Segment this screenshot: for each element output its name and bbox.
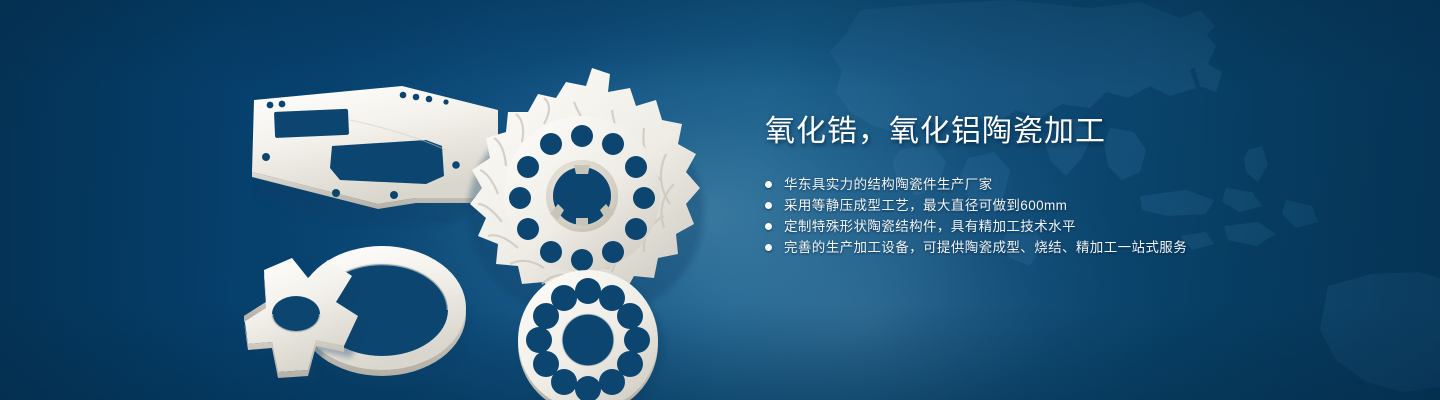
hero-banner: 氧化锆，氧化铝陶瓷加工 华东具实力的结构陶瓷件生产厂家 采用等静压成型工艺，最大… bbox=[0, 0, 1440, 400]
feature-list: 华东具实力的结构陶瓷件生产厂家 采用等静压成型工艺，最大直径可做到600mm 定… bbox=[765, 174, 1385, 258]
product-image-cluster bbox=[230, 50, 700, 390]
feature-text: 完善的生产加工设备，可提供陶瓷成型、烧结、精加工一站式服务 bbox=[784, 237, 1187, 258]
feature-text: 华东具实力的结构陶瓷件生产厂家 bbox=[784, 174, 993, 195]
feature-list-item: 华东具实力的结构陶瓷件生产厂家 bbox=[765, 174, 1385, 195]
feature-text: 采用等静压成型工艺，最大直径可做到600mm bbox=[784, 195, 1067, 216]
feature-text: 定制特殊形状陶瓷结构件，具有精加工技术水平 bbox=[784, 216, 1076, 237]
bullet-dot-icon bbox=[765, 244, 772, 251]
feature-list-item: 完善的生产加工设备，可提供陶瓷成型、烧结、精加工一站式服务 bbox=[765, 237, 1385, 258]
bullet-dot-icon bbox=[765, 202, 772, 209]
feature-list-item: 定制特殊形状陶瓷结构件，具有精加工技术水平 bbox=[765, 216, 1385, 237]
banner-headline: 氧化锆，氧化铝陶瓷加工 bbox=[765, 112, 1385, 152]
bullet-dot-icon bbox=[765, 223, 772, 230]
bullet-dot-icon bbox=[765, 181, 772, 188]
banner-copy: 氧化锆，氧化铝陶瓷加工 华东具实力的结构陶瓷件生产厂家 采用等静压成型工艺，最大… bbox=[765, 112, 1385, 258]
feature-list-item: 采用等静压成型工艺，最大直径可做到600mm bbox=[765, 195, 1385, 216]
ceramic-plate bbox=[252, 86, 502, 224]
